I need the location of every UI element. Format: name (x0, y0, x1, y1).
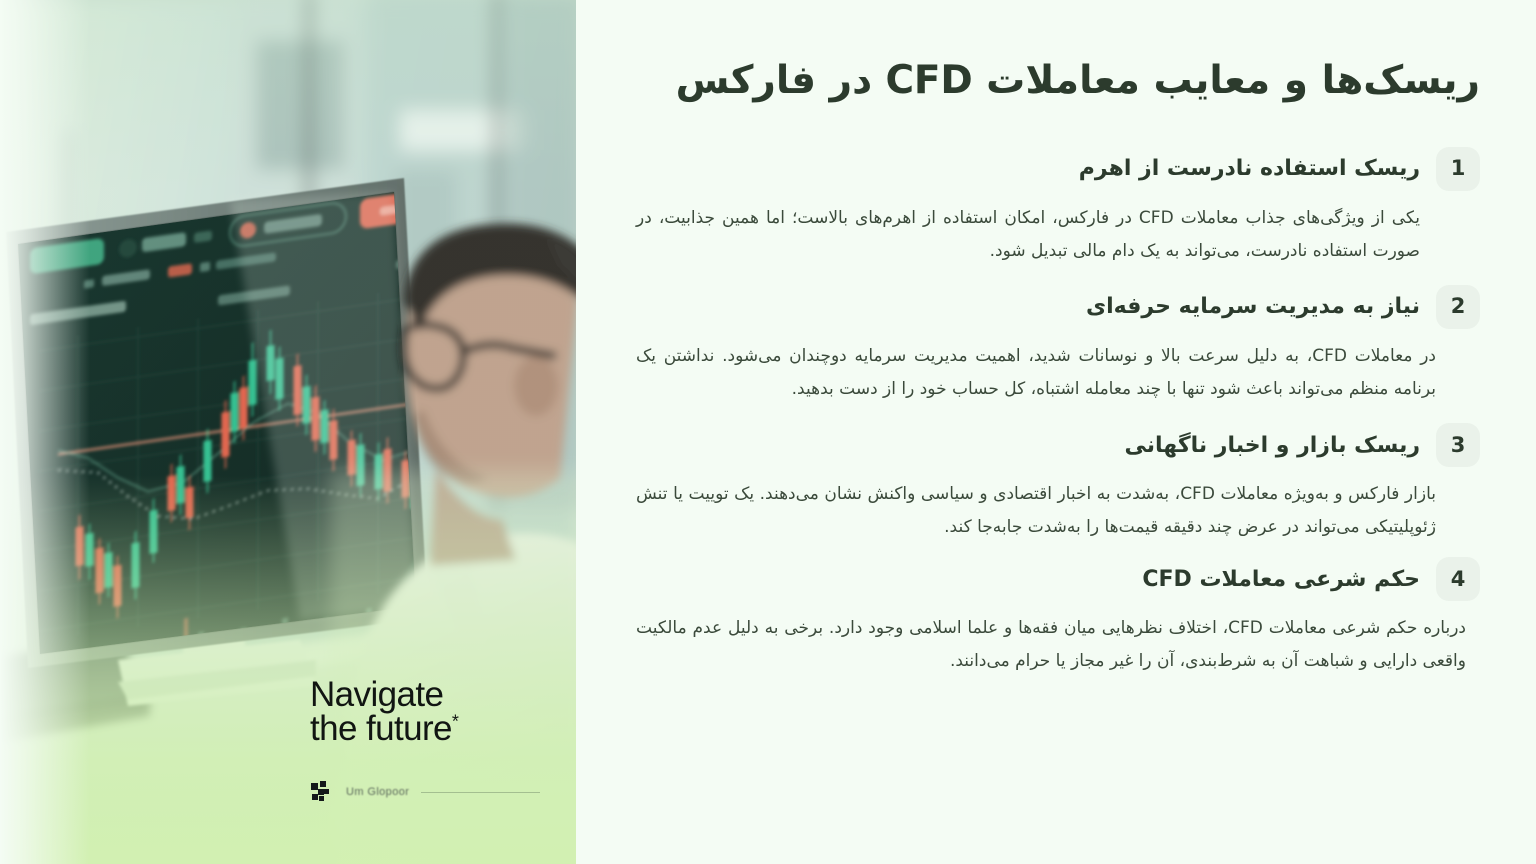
section-body-2: در معاملات CFD، به دلیل سرعت بالا و نوسا… (632, 340, 1480, 406)
section-body-4: درباره حکم شرعی معاملات CFD، اختلاف نظره… (632, 612, 1480, 678)
section-item-1: 1 ریسک استفاده نادرست از اهرم یکی از ویژ… (632, 147, 1480, 268)
brand-headline-star: * (452, 711, 458, 731)
section-body-1: یکی از ویژگی‌های جذاب معاملات CFD در فار… (632, 202, 1480, 268)
section-title-4: حکم شرعی معاملات CFD (1142, 563, 1420, 596)
brand-headline: Navigate the future* (310, 678, 540, 746)
section-item-2: 2 نیاز به مدیریت سرمایه حرفه‌ای در معامل… (632, 285, 1480, 406)
brand-divider-rule (421, 792, 540, 793)
section-title-2: نیاز به مدیریت سرمایه حرفه‌ای (1086, 290, 1420, 323)
page-title: ریسک‌ها و معایب معاملات CFD در فارکس (632, 52, 1480, 111)
section-title-1: ریسک استفاده نادرست از اهرم (1079, 152, 1420, 185)
section-title-3: ریسک بازار و اخبار ناگهانی (1125, 429, 1420, 462)
brand-footer: Um Glopoor (310, 780, 540, 804)
brand-name-label: Um Glopoor (346, 786, 409, 798)
hero-image-panel: Navigate the future* Um Glopoor (0, 0, 576, 864)
brand-headline-line2: the future (310, 709, 452, 748)
section-item-4: 4 حکم شرعی معاملات CFD درباره حکم شرعی م… (632, 557, 1480, 678)
pixel-square-logo-icon (310, 780, 334, 804)
section-item-3: 3 ریسک بازار و اخبار ناگهانی بازار فارکس… (632, 423, 1480, 544)
section-number-badge-2: 2 (1436, 285, 1480, 329)
brand-block: Navigate the future* Um Glopoor (310, 678, 540, 804)
content-panel: ریسک‌ها و معایب معاملات CFD در فارکس 1 ر… (576, 0, 1536, 864)
section-number-badge-3: 3 (1436, 423, 1480, 467)
slide-root: Navigate the future* Um Glopoor ریسک‌ها (0, 0, 1536, 864)
section-body-3: بازار فارکس و به‌ویژه معاملات CFD، به‌شد… (632, 478, 1480, 544)
sections-list: 1 ریسک استفاده نادرست از اهرم یکی از ویژ… (632, 147, 1480, 679)
section-header-4: 4 حکم شرعی معاملات CFD (632, 557, 1480, 601)
section-header-2: 2 نیاز به مدیریت سرمایه حرفه‌ای (632, 285, 1480, 329)
section-number-badge-4: 4 (1436, 557, 1480, 601)
section-header-1: 1 ریسک استفاده نادرست از اهرم (632, 147, 1480, 191)
section-number-badge-1: 1 (1436, 147, 1480, 191)
section-header-3: 3 ریسک بازار و اخبار ناگهانی (632, 423, 1480, 467)
